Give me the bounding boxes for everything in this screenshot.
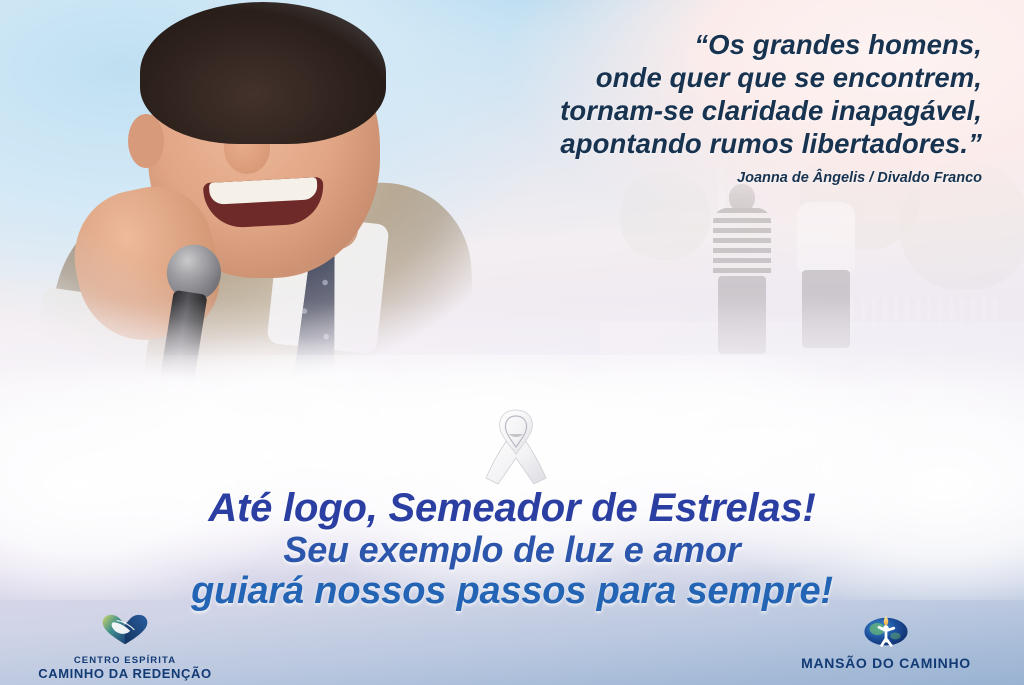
headline-line-3: guiará nossos passos para sempre! [0, 570, 1024, 612]
fence-shape [850, 298, 1000, 350]
person-striped-shirt [712, 184, 772, 364]
logo-mansao-do-caminho[interactable]: MANSÃO DO CAMINHO [756, 610, 1016, 669]
logo-right-caption: MANSÃO DO CAMINHO [756, 657, 1016, 669]
logo-left-line-2: CAMINHO DA REDENÇÃO [0, 668, 250, 680]
quote-line-1: “Os grandes homens, [422, 28, 982, 61]
headline-line-1: Até logo, Semeador de Estrelas! [0, 487, 1024, 530]
headline-line-2: Seu exemplo de luz e amor [0, 530, 1024, 570]
quote-line-2: onde quer que se encontrem, [422, 61, 982, 94]
speaker-portrait [18, 0, 488, 414]
quote-author: Joanna de Ângelis / Divaldo Franco [422, 170, 982, 186]
logo-right-line-1: MANSÃO DO CAMINHO [756, 657, 1016, 669]
person-white-shirt [792, 178, 860, 364]
logo-left-caption: CENTRO ESPÍRITA CAMINHO DA REDENÇÃO [0, 655, 250, 680]
headline-block: Até logo, Semeador de Estrelas! Seu exem… [0, 487, 1024, 612]
quote-text: “Os grandes homens, onde quer que se enc… [422, 28, 982, 160]
quote-line-3: tornam-se claridade inapagável, [422, 94, 982, 127]
walking-figures-photo [600, 150, 1024, 410]
logo-centro-espirita[interactable]: CENTRO ESPÍRITA CAMINHO DA REDENÇÃO [0, 612, 250, 680]
heart-hands-icon [0, 612, 250, 651]
mourning-ribbon-icon [478, 408, 554, 486]
quote-line-4: apontando rumos libertadores.” [422, 127, 982, 160]
globe-figure-icon [756, 610, 1016, 653]
memorial-poster: “Os grandes homens, onde quer que se enc… [0, 0, 1024, 685]
